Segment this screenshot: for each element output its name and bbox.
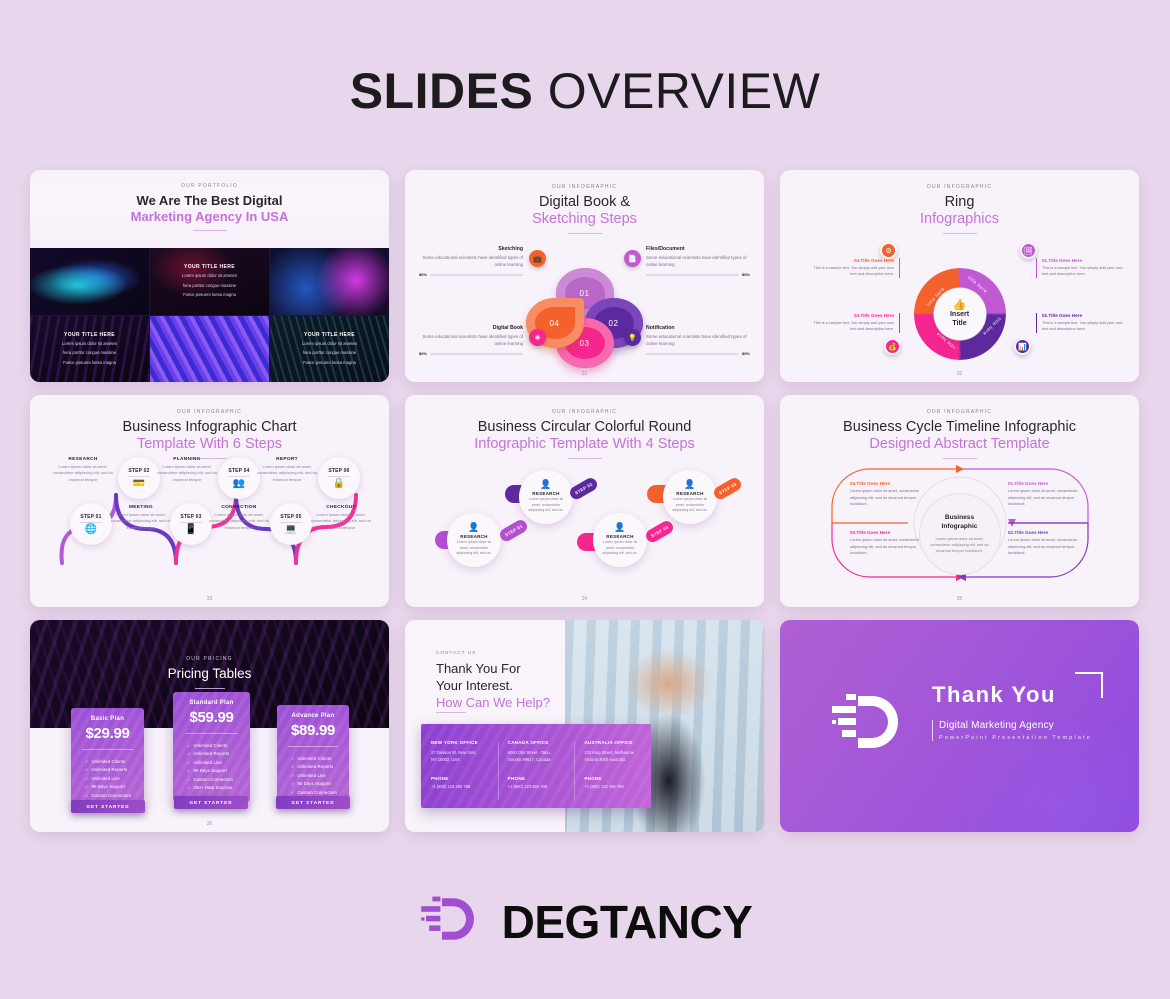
ring-item-title: 01.Title Goes Here [1042, 258, 1128, 263]
portfolio-photo [30, 248, 149, 315]
pricing-card-standard[interactable]: Standard Plan $59.99 Unlimited Clients U… [173, 692, 250, 802]
page-number: 35 [780, 596, 1139, 602]
step-desc: Lorem ipsum dolor sit amet, consectetur … [110, 512, 172, 531]
image-icon[interactable]: 🖼 [1020, 242, 1037, 259]
slides-grid: OUR PORTFOLIO We Are The Best Digital Ma… [30, 170, 1140, 832]
page-title-bold: SLIDES [350, 63, 534, 119]
user-icon: 👤 [614, 523, 625, 532]
portfolio-photo: YOUR TITLE HERE Lorem ipsum dolor sit am… [270, 316, 389, 383]
cycle-hub-line1: Business [945, 513, 974, 522]
info-block-notification: Notification Some educational scientists… [646, 325, 750, 356]
thank-you-text: Thank You Digital Marketing Agency Power… [932, 682, 1092, 741]
plan-feature: 250+ Data Sources [187, 784, 250, 792]
brand-footer: DEGTANCY [0, 892, 1170, 951]
office-address: 27 Division St, New York, NY 10002, USA [431, 749, 488, 764]
step-name: CONNECTION [208, 505, 270, 510]
plan-price: $59.99 [173, 709, 250, 726]
user-icon: 👤 [468, 523, 479, 532]
quadrant-title: 01.Title Goes Here [1008, 481, 1086, 486]
slide-digital-book[interactable]: OUR INFOGRAPHIC Digital Book & Sketching… [405, 170, 764, 382]
degtancy-d-logo [418, 892, 482, 951]
ring-title-dark: Ring [780, 194, 1139, 210]
thank-you-subtitle-group: Digital Marketing Agency PowerPoint Pres… [932, 720, 1092, 741]
thank-you-title: Thank You [932, 682, 1092, 708]
corner-bracket-icon [1075, 672, 1103, 698]
step-desc: Lorem ipsum dolor sit amet, consectetur … [208, 512, 270, 531]
portfolio-photo [150, 316, 269, 383]
ring-item-desc: This is a sample text. You simply add yo… [1042, 265, 1128, 278]
divider [82, 749, 133, 750]
slide-portfolio[interactable]: OUR PORTFOLIO We Are The Best Digital Ma… [30, 170, 389, 382]
contact-offices-panel: NEW YORK OFFICE 27 Division St, New York… [421, 724, 651, 808]
slide-thank-you[interactable]: Thank You Digital Marketing Agency Power… [780, 620, 1139, 832]
ring-item-title: 02.Title Goes Here [1042, 313, 1128, 318]
thank-you-tagline: PowerPoint Presentation Template [939, 735, 1092, 741]
plan-feature: Unlimited Reports [85, 766, 144, 774]
ring-item-title: 04.Title Goes Here [808, 258, 894, 263]
digital-book-title-dark: Digital Book & [405, 194, 764, 210]
quadrant-title: 02.Title Goes Here [1008, 530, 1086, 535]
contact-title-accent: How Can We Help? [436, 695, 550, 710]
step-name: MEETING [110, 505, 172, 510]
petal-label: 01 [580, 289, 590, 298]
office-canada: CANADA OFFICE 6060 Otis Street - Tahu, T… [498, 740, 575, 808]
portfolio-photo: YOUR TITLE HERE Lorem ipsum dolor sit am… [150, 248, 269, 315]
office-australia: AUSTRALIA OFFICE 123 King Street, Melbou… [574, 740, 651, 808]
photo-caption: YOUR TITLE HERE Lorem ipsum dolor sit am… [30, 332, 149, 367]
get-started-button-basic[interactable]: GET STARTED [71, 800, 145, 813]
circular-title-dark: Business Circular Colorful Round [405, 419, 764, 435]
step-name: PLANNING [156, 457, 218, 462]
plan-feature: Custom Connectors [85, 792, 144, 800]
step-circle-04[interactable]: STEP 04 👥 [218, 457, 260, 499]
slide-six-steps[interactable]: OUR INFOGRAPHIC Business Infographic Cha… [30, 395, 389, 607]
divider [185, 733, 239, 734]
pill-step-04: STEP 04 [712, 475, 744, 501]
ring-hub-line1: Insert [950, 311, 969, 319]
slides-overview-page: SLIDES OVERVIEW OUR PORTFOLIO We Are The… [0, 0, 1170, 999]
phone-value: +1 (800) 123 456 789 [431, 784, 488, 789]
steps-path [30, 395, 389, 607]
step-name: REPORT [256, 457, 318, 462]
portfolio-title-accent: Marketing Agency In USA [30, 209, 389, 224]
gear-icon[interactable]: ⚙ [880, 242, 897, 259]
photo-caption: YOUR TITLE HERE Lorem ipsum dolor sit am… [270, 332, 389, 367]
phone-label: PHONE [584, 776, 641, 781]
divider [932, 720, 933, 741]
phone-label: PHONE [431, 776, 488, 781]
step-label: STEP 04 [228, 468, 249, 474]
step-circle-02[interactable]: STEP 02 💳 [118, 457, 160, 499]
office-address: 6060 Otis Street - Tahu, Toronto 99617, … [508, 749, 565, 764]
progress-track [430, 353, 523, 355]
plan-feature: 90 Days Support [85, 783, 144, 791]
progress-track [646, 274, 739, 276]
contact-title-line2: Your Interest. [436, 678, 513, 693]
pricing-card-advance[interactable]: Advance Plan $89.99 Unlimited Clients Un… [277, 705, 349, 801]
progress-value: 80% [419, 272, 427, 277]
thumbs-up-icon: 👍 [953, 300, 967, 311]
slide-contact[interactable]: CONTACT US Thank You For Your Interest. … [405, 620, 764, 832]
step-label: STEP 06 [328, 468, 349, 474]
quadrant-title: 03.Title Goes Here [850, 530, 928, 535]
progress-track [430, 274, 523, 276]
step-desc: Lorem ipsum dolor sit amet, consectetur … [156, 464, 218, 483]
step-text-03: PLANNING Lorem ipsum dolor sit amet, con… [156, 457, 218, 483]
plan-feature: Unlimited Clients [85, 758, 144, 766]
chart-icon[interactable]: 📊 [1014, 338, 1031, 355]
round-card-04[interactable]: 👤 RESEARCH Lorem ipsum dolor sit amet, c… [663, 470, 717, 524]
photo-caption-line: Lorem ipsum dolor sit ametes [270, 341, 389, 348]
coins-icon[interactable]: 💰 [884, 338, 901, 355]
divider [195, 688, 225, 689]
step-desc: Lorem ipsum dolor sit amet, consectetur … [310, 512, 372, 531]
pricing-card-basic[interactable]: Basic Plan $29.99 Unlimited Clients Unli… [71, 708, 144, 806]
plan-feature: Unlimited Clients [291, 755, 349, 763]
card-title: RESEARCH [460, 534, 487, 539]
progress-value: 80% [742, 351, 750, 356]
degtancy-d-logo [828, 690, 908, 759]
round-card-03[interactable]: 👤 RESEARCH Lorem ipsum dolor sit amet, c… [593, 513, 647, 567]
block-title: Notification [646, 325, 750, 331]
photo-caption-title: YOUR TITLE HERE [150, 264, 269, 270]
contact-title: Thank You For Your Interest. How Can We … [436, 660, 550, 711]
get-started-button-standard[interactable]: GET STARTED [174, 796, 248, 809]
ring-item-desc: This is a sample text. You simply add yo… [1042, 320, 1128, 333]
page-number: 32 [780, 371, 1139, 377]
office-name: CANADA OFFICE [508, 740, 565, 745]
quadrant-desc: Lorem ipsum dolor sit amet, consectetur … [1008, 488, 1086, 508]
photo-caption-line: hera porttor congue massine [150, 283, 269, 290]
people-icon: 👥 [233, 479, 245, 489]
office-new-york: NEW YORK OFFICE 27 Division St, New York… [421, 740, 498, 808]
ring-eyebrow: OUR INFOGRAPHIC [780, 184, 1139, 190]
divider [288, 746, 338, 747]
plan-feature: Custom Connectors [187, 776, 250, 784]
plan-feature: Unlimited Reports [291, 763, 349, 771]
asterisk-icon[interactable]: ❋ [529, 329, 546, 346]
portfolio-title-dark: We Are The Best Digital [30, 193, 389, 208]
block-desc: Some educational scientists have identif… [419, 333, 523, 347]
page-number: 31 [405, 371, 764, 377]
cycle-quadrant-03: 03.Title Goes Here Lorem ipsum dolor sit… [850, 530, 928, 557]
step-desc: Lorem ipsum dolor sit amet, consectetur … [256, 464, 318, 483]
block-desc: Some educational scientists have identif… [419, 254, 523, 268]
step-desc: Lorem ipsum dolor sit amet, consectetur … [52, 464, 114, 483]
document-icon[interactable]: 📄 [624, 250, 641, 267]
plan-feature: 90 Days Support [291, 780, 349, 788]
brand-name: DEGTANCY [502, 895, 753, 949]
slide-circular-four[interactable]: OUR INFOGRAPHIC Business Circular Colorf… [405, 395, 764, 607]
page-title: SLIDES OVERVIEW [0, 62, 1170, 120]
plan-price: $29.99 [71, 725, 144, 742]
quadrant-desc: Lorem ipsum dolor sit amet, consectetur … [850, 537, 928, 557]
slide-ring[interactable]: OUR INFOGRAPHIC Ring Infographics title … [780, 170, 1139, 382]
step-text-05: REPORT Lorem ipsum dolor sit amet, conse… [256, 457, 318, 483]
petal-label: 04 [550, 319, 560, 328]
cycle-quadrant-04: 04.Title Goes Here Lorem ipsum dolor sit… [850, 481, 928, 508]
circular-eyebrow: OUR INFOGRAPHIC [405, 409, 764, 415]
card-title: RESEARCH [606, 534, 633, 539]
portfolio-photo [270, 248, 389, 315]
divider [193, 230, 227, 231]
pill-step-02: STEP 02 [568, 475, 600, 501]
round-card-01[interactable]: 👤 RESEARCH Lorem ipsum dolor sit amet, c… [447, 513, 501, 567]
photo-caption-title: YOUR TITLE HERE [30, 332, 149, 338]
circular-title-accent: Infographic Template With 4 Steps [405, 436, 764, 452]
digital-book-eyebrow: OUR INFOGRAPHIC [405, 184, 764, 190]
step-circle-03[interactable]: STEP 03 📱 [170, 503, 212, 545]
step-name: RESEARCH [52, 457, 114, 462]
plan-feature: 90 Days Support [187, 767, 250, 775]
contact-title-line1: Thank You For [436, 661, 521, 676]
step-text-02: MEETING Lorem ipsum dolor sit amet, cons… [110, 505, 172, 531]
step-text-01: RESEARCH Lorem ipsum dolor sit amet, con… [52, 457, 114, 483]
step-name: CHECKOUT [310, 505, 372, 510]
photo-caption-line: Fusce posuere loesa magna [150, 292, 269, 299]
divider [436, 712, 466, 713]
digital-book-title-accent: Sketching Steps [405, 211, 764, 227]
page-number: 34 [405, 596, 764, 602]
progress-track [646, 353, 739, 355]
plan-name: Advance Plan [277, 713, 349, 719]
step-label: STEP 03 [180, 514, 201, 520]
ring-item-desc: This is a sample text. You simply add yo… [808, 265, 894, 278]
office-name: NEW YORK OFFICE [431, 740, 488, 745]
photo-caption-line: hera porttor congue massine [30, 350, 149, 357]
page-number: 33 [30, 596, 389, 602]
ring-item-02: 02.Title Goes Here This is a sample text… [1036, 313, 1128, 333]
monitor-icon: 💻 [285, 525, 297, 535]
slide-pricing[interactable]: OUR PRICING Pricing Tables Basic Plan $2… [30, 620, 389, 832]
step-text-04: CONNECTION Lorem ipsum dolor sit amet, c… [208, 505, 270, 531]
plan-price: $89.99 [277, 722, 349, 739]
portfolio-eyebrow: OUR PORTFOLIO [30, 183, 389, 189]
plan-feature: Unlimited Live [85, 775, 144, 783]
thank-you-subtitle: Digital Marketing Agency [939, 720, 1092, 731]
step-label: STEP 02 [128, 468, 149, 474]
info-block-digital-book: Digital Book Some educational scientists… [419, 325, 523, 356]
step-label: STEP 01 [80, 514, 101, 520]
quadrant-desc: Lorem ipsum dolor sit amet, consectetur … [1008, 537, 1086, 557]
petal-diagram: 01 02 03 04 [525, 272, 645, 368]
photo-caption: YOUR TITLE HERE Lorem ipsum dolor sit am… [150, 264, 269, 299]
portfolio-photo-grid: YOUR TITLE HERE Lorem ipsum dolor sit am… [30, 248, 389, 382]
plan-feature: Unlimited Reports [187, 750, 250, 758]
pricing-header: OUR PRICING Pricing Tables [30, 620, 389, 689]
card-desc: Lorem ipsum dolor sit amet, consectetur … [524, 497, 568, 514]
info-block-files: Files/Document Some educational scientis… [646, 246, 750, 277]
phone-value: +1 (800) 123 456 789 [584, 784, 641, 789]
ring-hub-line2: Title [952, 320, 966, 328]
ring-item-title: 03.Title Goes Here [808, 313, 894, 318]
card-title: RESEARCH [532, 491, 559, 496]
round-card-02[interactable]: 👤 RESEARCH Lorem ipsum dolor sit amet, c… [519, 470, 573, 524]
office-name: AUSTRALIA OFFICE [584, 740, 641, 745]
pricing-eyebrow: OUR PRICING [30, 656, 389, 662]
step-circle-01[interactable]: STEP 01 🌐 [70, 503, 112, 545]
pill-step-01: STEP 01 [498, 517, 530, 543]
plan-features: Unlimited Clients Unlimited Reports Unli… [173, 742, 250, 792]
info-block-sketching: Sketching Some educational scientists ha… [419, 246, 523, 277]
cycle-quadrant-02: 02.Title Goes Here Lorem ipsum dolor sit… [1008, 530, 1086, 557]
card-title: RESEARCH [676, 491, 703, 496]
ring-hub: 👍 Insert Title [934, 288, 986, 340]
step-text-06: CHECKOUT Lorem ipsum dolor sit amet, con… [310, 505, 372, 531]
photo-caption-title: YOUR TITLE HERE [270, 332, 389, 338]
plan-feature: Unlimited Live [291, 772, 349, 780]
bulb-icon[interactable]: 💡 [624, 329, 641, 346]
block-title: Sketching [419, 246, 523, 252]
plan-name: Basic Plan [71, 716, 144, 722]
divider [568, 233, 602, 234]
card-icon: 💳 [133, 479, 145, 489]
cycle-hub: Business Infographic Lorem ipsum dolor s… [919, 493, 1001, 575]
cycle-hub-desc: Lorem ipsum dolor sit amet, consectetur … [929, 536, 991, 555]
step-circle-06[interactable]: STEP 06 🔒 [318, 457, 360, 499]
briefcase-icon[interactable]: 💼 [529, 250, 546, 267]
contact-eyebrow: CONTACT US [436, 650, 476, 655]
photo-caption-line: Fusce posuere loesa magna [270, 360, 389, 367]
step-label: STEP 05 [280, 514, 301, 520]
portfolio-photo: YOUR TITLE HERE Lorem ipsum dolor sit am… [30, 316, 149, 383]
ring-item-03: 03.Title Goes Here This is a sample text… [808, 313, 900, 333]
block-desc: Some educational scientists have identif… [646, 254, 750, 268]
mobile-icon: 📱 [185, 525, 197, 535]
divider [568, 458, 602, 459]
block-title: Files/Document [646, 246, 750, 252]
plan-name: Standard Plan [173, 700, 250, 706]
block-title: Digital Book [419, 325, 523, 331]
step-circle-05[interactable]: STEP 05 💻 [270, 503, 312, 545]
block-desc: Some educational scientists have identif… [646, 333, 750, 347]
user-icon: 👤 [540, 480, 551, 489]
page-number: 36 [30, 821, 389, 827]
plan-feature: Unlimited Live [187, 759, 250, 767]
pill-step-03: STEP 03 [644, 518, 676, 544]
ring-item-01: 01.Title Goes Here This is a sample text… [1036, 258, 1128, 278]
quadrant-desc: Lorem ipsum dolor sit amet, consectetur … [850, 488, 928, 508]
quadrant-title: 04.Title Goes Here [850, 481, 928, 486]
pricing-title: Pricing Tables [30, 666, 389, 681]
ring-item-04: 04.Title Goes Here This is a sample text… [808, 258, 900, 278]
ring-title-accent: Infographics [780, 211, 1139, 227]
cycle-quadrant-01: 01.Title Goes Here Lorem ipsum dolor sit… [1008, 481, 1086, 508]
page-title-light: OVERVIEW [548, 63, 821, 119]
user-icon: 👤 [684, 480, 695, 489]
progress-value: 80% [742, 272, 750, 277]
phone-value: +1 (800) 123 456 789 [508, 784, 565, 789]
phone-label: PHONE [508, 776, 565, 781]
office-address: 123 King Street, Melbourne Victoria 3000… [584, 749, 641, 764]
progress-value: 80% [419, 351, 427, 356]
ring-item-desc: This is a sample text. You simply add yo… [808, 320, 894, 333]
photo-caption-line: hera porttor congue massine [270, 350, 389, 357]
cycle-hub-line2: Infographic [942, 522, 978, 531]
photo-caption-line: Fusce posuere loesa magna [30, 360, 149, 367]
globe-icon: 🌐 [85, 525, 97, 535]
divider [943, 233, 977, 234]
ring-diagram: title here title here title here title h… [914, 268, 1006, 360]
card-desc: Lorem ipsum dolor sit amet, consectetur … [598, 540, 642, 557]
photo-caption-line: Lorem ipsum dolor sit ametes [30, 341, 149, 348]
plan-feature: Unlimited Clients [187, 742, 250, 750]
slide-cycle-timeline[interactable]: OUR INFOGRAPHIC Business Cycle Timeline … [780, 395, 1139, 607]
card-desc: Lorem ipsum dolor sit amet, consectetur … [452, 540, 496, 557]
card-desc: Lorem ipsum dolor sit amet, consectetur … [668, 497, 712, 514]
photo-caption-line: Lorem ipsum dolor sit ametes [150, 273, 269, 280]
lock-icon: 🔒 [333, 479, 345, 489]
get-started-button-advance[interactable]: GET STARTED [276, 796, 350, 809]
